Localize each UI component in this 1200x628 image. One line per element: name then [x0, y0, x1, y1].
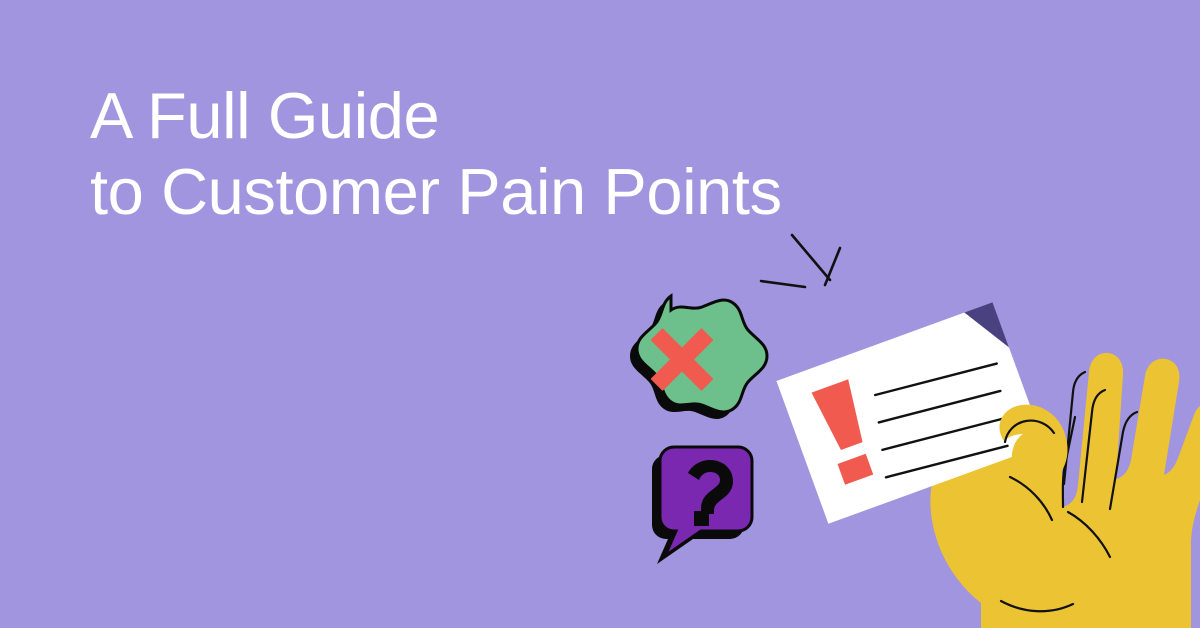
question-bubble-icon: [652, 447, 752, 564]
banner: A Full Guide to Customer Pain Points: [0, 0, 1200, 628]
error-badge-icon: [630, 296, 767, 419]
motion-lines-icon: [761, 235, 840, 287]
illustration: [0, 0, 1200, 628]
